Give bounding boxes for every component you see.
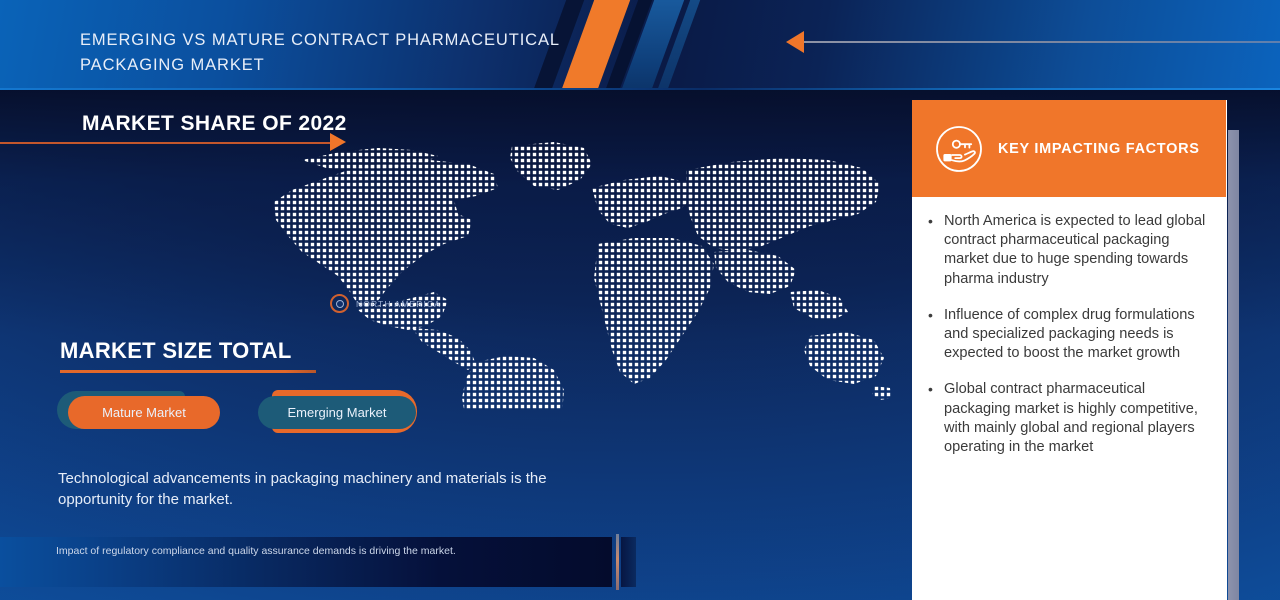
left-arrow-icon [786, 31, 804, 53]
legend-mature-market[interactable]: Mature Market [68, 396, 220, 429]
bottom-band-accent [621, 537, 636, 587]
list-item: • North America is expected to lead glob… [928, 212, 1214, 289]
hand-holding-key-icon [934, 124, 984, 174]
legend-mature-market-label: Mature Market [102, 405, 186, 420]
panel-shadow [1228, 130, 1239, 600]
market-size-title: MARKET SIZE TOTAL [60, 338, 292, 364]
header-banner: EMERGING VS MATURE CONTRACT PHARMACEUTIC… [0, 0, 1280, 90]
list-item: • Global contract pharmaceutical packagi… [928, 380, 1214, 457]
bullet-marker: • [928, 380, 934, 457]
legend-emerging-market[interactable]: Emerging Market [258, 396, 416, 429]
opportunity-text: Technological advancements in packaging … [58, 468, 618, 510]
panel-bullet-list: • North America is expected to lead glob… [928, 212, 1214, 474]
list-item-text: North America is expected to lead global… [944, 212, 1214, 289]
header-arrow-line [800, 41, 1280, 43]
map-marker-north-america[interactable]: NORTH AMERICA [330, 294, 441, 313]
world-map-dotted [262, 140, 902, 410]
market-size-rule [60, 370, 316, 373]
map-marker-label: NORTH AMERICA [356, 299, 441, 309]
bottom-note-text: Impact of regulatory compliance and qual… [56, 544, 556, 559]
page-title: EMERGING VS MATURE CONTRACT PHARMACEUTIC… [80, 28, 600, 78]
bottom-band-separator [616, 534, 619, 590]
panel-title: KEY IMPACTING FACTORS [998, 141, 1200, 157]
panel-header: KEY IMPACTING FACTORS [912, 100, 1226, 197]
list-item-text: Global contract pharmaceutical packaging… [944, 380, 1214, 457]
infographic-slide: EMERGING VS MATURE CONTRACT PHARMACEUTIC… [0, 0, 1280, 600]
market-share-title: MARKET SHARE OF 2022 [82, 112, 347, 136]
list-item-text: Influence of complex drug formulations a… [944, 306, 1214, 364]
bullet-marker: • [928, 306, 934, 364]
location-ring-icon [330, 294, 349, 313]
list-item: • Influence of complex drug formulations… [928, 306, 1214, 364]
legend-emerging-market-label: Emerging Market [288, 405, 387, 420]
bullet-marker: • [928, 212, 934, 289]
